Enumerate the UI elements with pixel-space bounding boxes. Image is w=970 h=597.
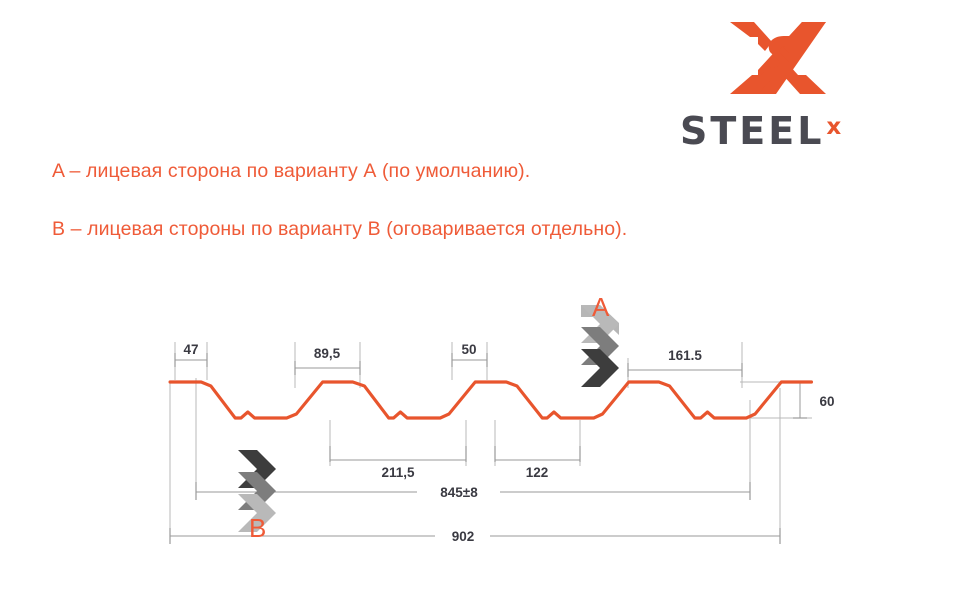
profile-section-line [170, 382, 811, 418]
dim-right-span-label: 161.5 [668, 348, 702, 363]
dim-valley-label: 122 [526, 465, 549, 480]
dimension-labels: 47 89,5 50 161.5 211,5 122 845±8 902 60 [183, 342, 834, 544]
page-root: STEEL x A – лицевая сторона по варианту … [0, 0, 970, 597]
dim-rib-crest-label: 50 [461, 342, 476, 357]
dim-top-flange-left-label: 47 [183, 342, 198, 357]
dim-effective-width-label: 845±8 [440, 485, 478, 500]
steelx-x-monogram-icon [728, 18, 828, 98]
dim-total-width-label: 902 [452, 529, 475, 544]
legend-line-b: B – лицевая стороны по варианту B (огова… [52, 218, 812, 241]
profile-drawing: 47 89,5 50 161.5 211,5 122 845±8 902 60 [0, 270, 970, 570]
dim-mid-span-label: 211,5 [381, 465, 415, 480]
wordmark-superscript-x: x [826, 116, 841, 139]
dim-height-label: 60 [819, 394, 834, 409]
wordmark-steel: STEEL [680, 112, 824, 150]
profile-drawing-svg: 47 89,5 50 161.5 211,5 122 845±8 902 60 [0, 270, 970, 570]
brand-logo: STEEL x [680, 18, 890, 148]
brand-wordmark: STEEL x [680, 106, 890, 150]
legend-line-a: A – лицевая сторона по варианту А (по ум… [52, 160, 812, 183]
marker-a-label: A [592, 292, 609, 323]
dim-rib-pitch-label: 89,5 [314, 346, 341, 361]
marker-b-label: B [249, 513, 266, 544]
